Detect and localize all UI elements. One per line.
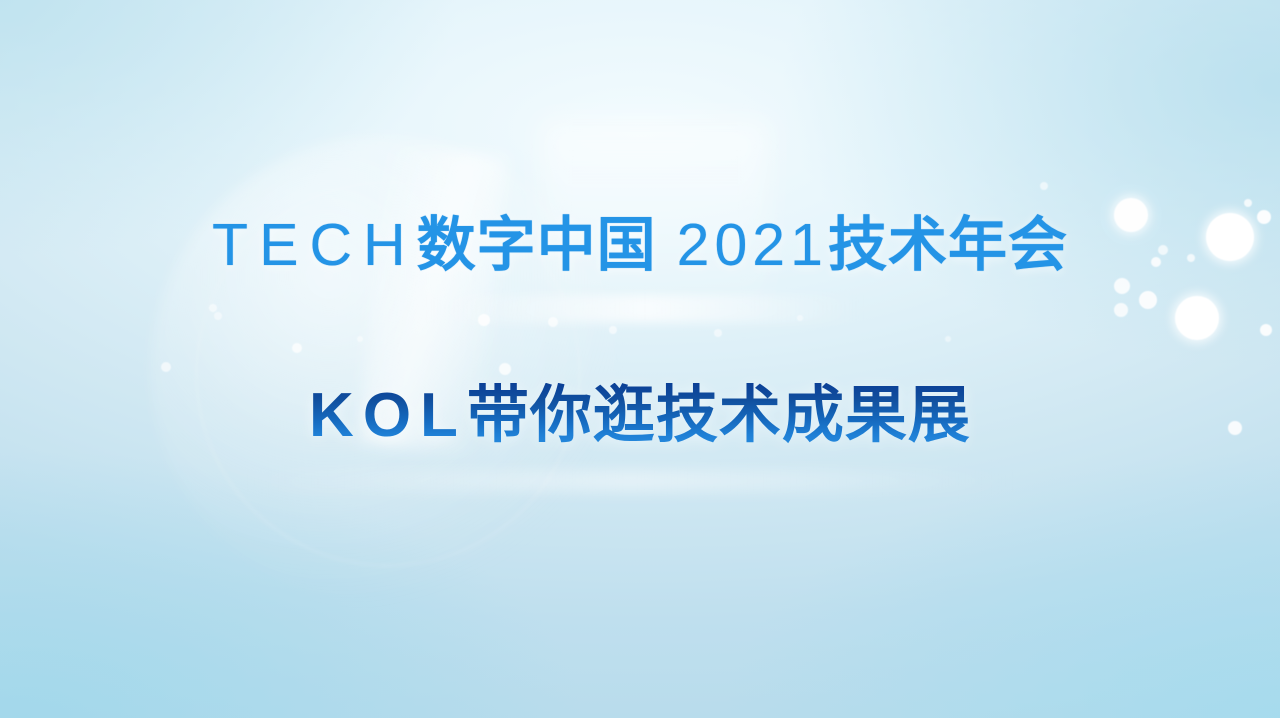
event-title-brand: 数字中国 bbox=[417, 212, 657, 278]
event-title: TECH数字中国2021技术年会 bbox=[0, 216, 1280, 275]
title-card-slide: TECH数字中国2021技术年会 KOL带你逛技术成果展 bbox=[0, 0, 1280, 718]
event-title-year: 2021 bbox=[677, 212, 828, 278]
event-title-event: 技术年会 bbox=[828, 212, 1068, 278]
title-text-block: TECH数字中国2021技术年会 KOL带你逛技术成果展 bbox=[0, 0, 1280, 718]
event-subtitle: KOL带你逛技术成果展 bbox=[0, 383, 1280, 450]
event-title-english: TECH bbox=[212, 212, 417, 278]
event-subtitle-text: 带你逛技术成果展 bbox=[467, 381, 971, 450]
event-subtitle-english: KOL bbox=[309, 381, 467, 450]
